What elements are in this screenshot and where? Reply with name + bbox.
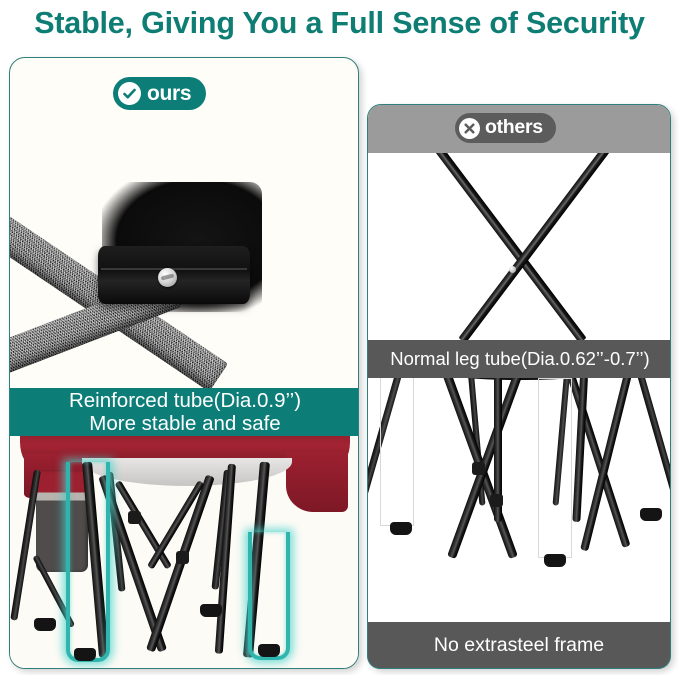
ours-badge-label: ours <box>147 83 191 104</box>
chair-foot-far-left <box>34 618 56 631</box>
black-chair-joint-left <box>472 462 485 475</box>
black-chair-x-brace-right-3 <box>580 365 634 551</box>
chair-foot-center <box>200 604 222 617</box>
black-chair-foot-center <box>544 554 566 567</box>
page-title: Stable, Giving You a Full Sense of Secur… <box>0 2 679 46</box>
others-top-caption: Normal leg tube(Dia.0.62’’-0.7’’) <box>368 340 671 378</box>
product-comparison-infographic: Stable, Giving You a Full Sense of Secur… <box>0 0 679 675</box>
others-bottom-caption-text: No extrasteel frame <box>434 634 604 657</box>
black-chair-x-brace-right <box>447 360 527 559</box>
bracket-screw <box>158 268 177 287</box>
black-chair-x-brace-left <box>438 360 518 559</box>
black-chair-joint-center <box>490 494 503 507</box>
missing-steel-frame-outline-left <box>380 366 414 526</box>
ours-reinforced-tube-photo <box>10 98 359 388</box>
tube-rivet <box>509 266 516 273</box>
ours-top-caption: Reinforced tube(Dia.0.9’’) More stable a… <box>10 388 359 436</box>
missing-steel-frame-outline-right <box>538 378 572 558</box>
black-chair-foot-right <box>640 508 662 521</box>
x-circle-icon <box>459 118 480 139</box>
chair-brace-joint-upper <box>128 511 141 524</box>
black-chair-foot-left <box>390 522 412 535</box>
chair-seat-skirt-right <box>286 452 348 512</box>
others-bottom-caption: No extrasteel frame <box>367 622 671 669</box>
chair-x-brace-center-joint <box>176 551 189 564</box>
others-badge-label: others <box>485 118 543 138</box>
ours-badge: ours <box>113 77 206 110</box>
others-badge: others <box>455 113 556 143</box>
ours-chair-frame-photo <box>10 436 359 669</box>
check-circle-icon <box>118 82 141 105</box>
others-comparison-panel: Normal leg tube(Dia.0.62’’-0.7’’) <box>367 104 671 669</box>
normal-tube-right <box>458 153 622 340</box>
chair-foot-right <box>258 644 280 657</box>
others-normal-tube-photo <box>368 153 671 340</box>
ours-top-caption-text: Reinforced tube(Dia.0.9’’) More stable a… <box>69 389 301 435</box>
chair-foot-left <box>74 648 96 661</box>
others-chair-frame-photo <box>368 340 671 669</box>
normal-tube-left <box>423 153 587 340</box>
black-chair-leg-far-right <box>634 363 671 519</box>
extra-steel-frame-highlight-right <box>248 532 290 660</box>
others-top-caption-text: Normal leg tube(Dia.0.62’’-0.7’’) <box>390 348 649 370</box>
extra-steel-frame-highlight-left <box>66 462 110 662</box>
ours-comparison-panel: Reinforced tube(Dia.0.9’’) More stable a… <box>9 57 359 669</box>
